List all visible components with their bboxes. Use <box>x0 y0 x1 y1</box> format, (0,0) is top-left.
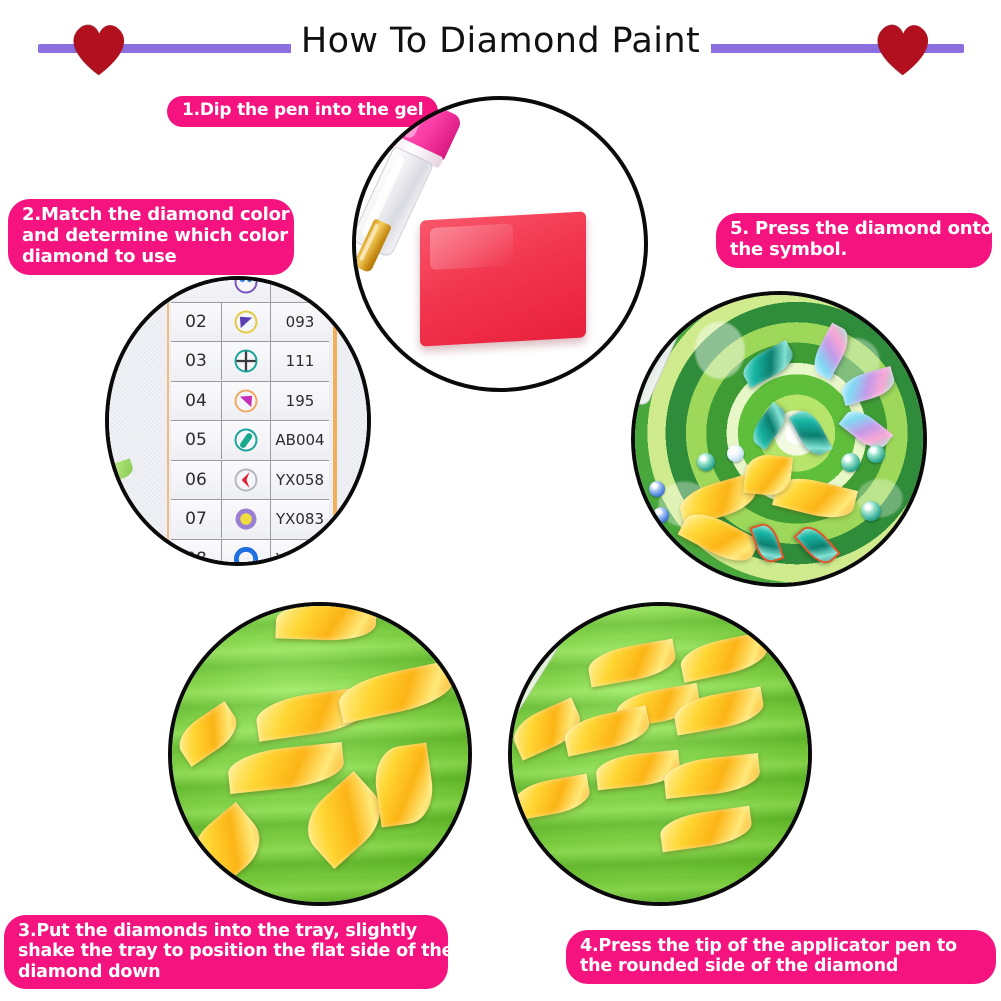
step-2-label-line: 2.Match the diamond color <box>22 205 280 226</box>
diagonal-bar-in-teal-circle-icon <box>222 421 271 460</box>
photo-placing-diamond-on-canvas <box>631 291 927 587</box>
page-title: How To Diamond Paint <box>0 18 1001 64</box>
gem-round-blue <box>653 507 669 523</box>
circle-two-dots-purple-icon <box>222 276 271 302</box>
step-2-label: 2.Match the diamond color and determine … <box>8 199 294 275</box>
header-banner: How To Diamond Paint <box>0 0 1001 88</box>
photo-symbol-legend-chart: 020 02 093 03 <box>105 276 371 566</box>
step-4-label-line: 4.Press the tip of the applicator pen to <box>580 936 982 956</box>
table-row: 08 YX106 <box>171 540 329 567</box>
step-3-label-line: diamond down <box>18 962 434 982</box>
table-row: 02 093 <box>171 303 329 343</box>
table-row: 05 AB004 <box>171 421 329 461</box>
legend-number: 04 <box>171 382 222 420</box>
legend-number: 06 <box>171 461 222 499</box>
legend-number: 08 <box>171 540 222 566</box>
blue-ring-icon <box>222 540 271 567</box>
legend-number: 07 <box>171 500 222 538</box>
table-row: 07 YX083 <box>171 500 329 540</box>
legend-number: 03 <box>171 342 222 380</box>
plus-in-teal-circle-icon <box>222 342 271 381</box>
legend-number: 02 <box>171 303 222 341</box>
canvas-guide-line-left <box>167 280 169 562</box>
gem-marquise-yellow <box>275 602 376 641</box>
gem-round-clear <box>727 445 744 462</box>
step-5-label-line: 5. Press the diamond onto <box>730 219 978 240</box>
legend-code: YX083 <box>271 500 329 538</box>
gem-round-teal <box>841 453 860 472</box>
gem-round-teal <box>697 453 715 471</box>
photo-1-scene <box>356 100 644 388</box>
canvas-guide-line-right <box>333 280 337 562</box>
legend-code: 020 <box>271 276 329 301</box>
step-2-label-line: diamond to use <box>22 247 280 268</box>
legend-code: 111 <box>271 342 329 380</box>
gem-round-teal <box>867 445 885 463</box>
infographic-canvas: How To Diamond Paint 1.Dip the pen into … <box>0 0 1001 1001</box>
yellow-dot-in-purple-ring-icon <box>222 500 271 539</box>
legend-code: YX058 <box>271 461 329 499</box>
triangle-magenta-in-orange-circle-icon <box>222 382 271 421</box>
legend-code: 195 <box>271 382 329 420</box>
legend-table: 020 02 093 03 <box>171 276 329 566</box>
red-chevron-left-in-gray-circle-icon <box>222 461 271 500</box>
step-3-label: 3.Put the diamonds into the tray, slight… <box>4 915 448 989</box>
triangle-purple-in-yellow-circle-icon <box>222 303 271 342</box>
table-row: 04 195 <box>171 382 329 422</box>
legend-code: AB004 <box>271 421 329 459</box>
step-3-label-line: shake the tray to position the flat side… <box>18 941 434 961</box>
step-4-label: 4.Press the tip of the applicator pen to… <box>566 930 996 984</box>
gem-round-teal <box>861 501 881 521</box>
step-5-label-line: the symbol. <box>730 240 978 261</box>
legend-code: 093 <box>271 303 329 341</box>
table-row: 020 <box>171 276 329 303</box>
gel-pad <box>420 211 586 346</box>
legend-code: YX106 <box>271 540 329 566</box>
photo-diamonds-in-tray <box>168 602 472 906</box>
legend-number: 05 <box>171 421 222 459</box>
gem-round-blue <box>649 481 665 497</box>
table-row: 06 YX058 <box>171 461 329 501</box>
step-2-label-line: and determine which color <box>22 226 280 247</box>
table-row: 03 111 <box>171 342 329 382</box>
photo-pen-picking-diamond <box>508 602 812 906</box>
step-3-label-line: 3.Put the diamonds into the tray, slight… <box>18 921 434 941</box>
step-5-label: 5. Press the diamond onto the symbol. <box>716 213 992 268</box>
photo-pen-dipping-in-gel <box>352 96 648 392</box>
step-4-label-line: the rounded side of the diamond <box>580 956 982 976</box>
